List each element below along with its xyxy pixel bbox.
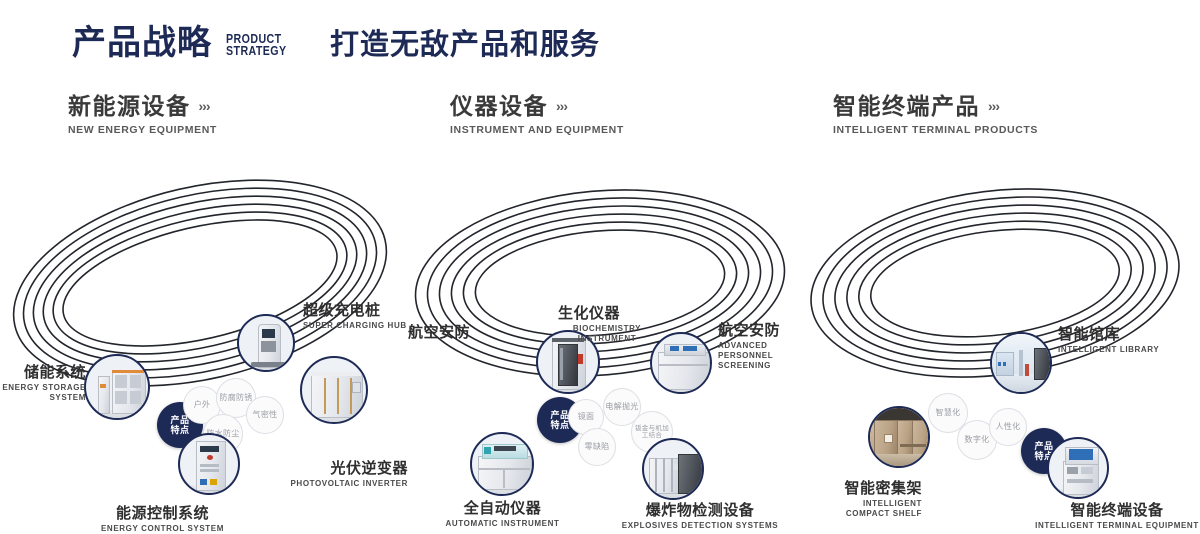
label-cn: 智能密集架 — [782, 480, 922, 497]
section-heading-new-energy: 新能源设备 ››› NEW ENERGY EQUIPMENT — [68, 94, 217, 136]
core-bubble-line2: 特点 — [170, 425, 189, 435]
label-en: INTELLIGENT COMPACT SHELF — [822, 499, 922, 519]
label-en: INTELLIGENT TERMINAL EQUIPMENT — [1027, 521, 1200, 531]
chevron-right-icon: ››› — [988, 99, 999, 114]
label-en: SUPER CHARGING HUB — [303, 321, 413, 331]
label-cn: 生化仪器 — [528, 305, 650, 322]
node-energy-control-system[interactable] — [178, 433, 240, 495]
label-super-charging-hub: 超级充电桩 SUPER CHARGING HUB — [303, 302, 413, 331]
label-explosives-detection-systems: 爆炸物检测设备 EXPLOSIVES DETECTION SYSTEMS — [615, 502, 785, 531]
orbit-rings-instrument — [400, 150, 800, 415]
label-cn: 智能终端设备 — [1027, 502, 1200, 519]
label-en: BIOCHEMISTRY INSTRUMENT — [564, 324, 650, 344]
node-intelligent-compact-shelf[interactable] — [868, 406, 930, 468]
product-strategy-infographic: 产品战略 PRODUCT STRATEGY 打造无敌产品和服务 新能源设备 ››… — [0, 0, 1200, 422]
section-heading-intelligent-terminal: 智能终端产品 ››› INTELLIGENT TERMINAL PRODUCTS — [833, 94, 1038, 136]
label-energy-control-system: 能源控制系统 ENERGY CONTROL SYSTEM — [75, 505, 250, 534]
feature-bubble-airtight: 气密性 — [246, 396, 284, 434]
section-heading-english: INTELLIGENT TERMINAL PRODUCTS — [833, 124, 1038, 136]
automatic-analyzer-icon — [472, 434, 532, 494]
label-cn: 爆炸物检测设备 — [615, 502, 785, 519]
pv-inverter-cabinet-icon — [302, 358, 366, 422]
control-cabinet-icon — [180, 435, 238, 493]
section-heading-label: 智能终端产品 — [833, 94, 980, 119]
node-intelligent-library[interactable] — [990, 332, 1052, 394]
section-heading-english: INSTRUMENT AND EQUIPMENT — [450, 124, 624, 136]
page-title-english: PRODUCT STRATEGY — [226, 33, 287, 60]
chevron-right-icon: ››› — [556, 99, 567, 114]
label-intelligent-compact-shelf: 智能密集架 INTELLIGENT COMPACT SHELF — [782, 480, 922, 519]
node-explosives-detection-systems[interactable] — [642, 438, 704, 500]
label-en: ENERGY STORAGE SYSTEM — [0, 383, 86, 403]
label-cn: 光伏逆变器 — [276, 460, 408, 477]
page-title-english-line2: STRATEGY — [226, 45, 287, 57]
label-intelligent-library: 智能馆库 INTELLIGENT LIBRARY — [1058, 326, 1188, 355]
label-en: ENERGY CONTROL SYSTEM — [75, 524, 250, 534]
label-cn: 航空安防 — [408, 324, 470, 341]
section-heading-label: 新能源设备 — [68, 94, 191, 119]
label-cn: 超级充电桩 — [303, 302, 413, 319]
section-heading-label: 仪器设备 — [450, 94, 548, 119]
label-en: PHOTOVOLTAIC INVERTER — [276, 479, 408, 489]
label-en: AUTOMATIC INSTRUMENT — [425, 519, 580, 529]
node-super-charging-hub[interactable] — [237, 314, 295, 372]
label-en: ADVANCED PERSONNEL SCREENING — [718, 341, 810, 371]
label-energy-storage-system: 储能系统 ENERGY STORAGE SYSTEM — [0, 364, 86, 403]
node-automatic-instrument[interactable] — [470, 432, 534, 496]
cluster-new-energy: 产品 特点 户外 防腐防锈 防水防尘 气密性 储能系统 ENERGY STORA… — [0, 150, 400, 415]
label-cn: 全自动仪器 — [425, 500, 580, 517]
chevron-right-icon: ››› — [199, 99, 210, 114]
label-intelligent-terminal-equipment: 智能终端设备 INTELLIGENT TERMINAL EQUIPMENT — [1027, 502, 1200, 531]
charging-pile-icon — [239, 316, 293, 370]
section-heading-instrument: 仪器设备 ››› INSTRUMENT AND EQUIPMENT — [450, 94, 624, 136]
node-energy-storage-system[interactable] — [84, 354, 150, 420]
feature-bubble-humanized: 人性化 — [989, 408, 1027, 446]
compact-shelving-icon — [870, 408, 928, 466]
core-bubble-line1: 产品 — [550, 410, 569, 420]
section-heading-english: NEW ENERGY EQUIPMENT — [68, 124, 217, 136]
label-photovoltaic-inverter: 光伏逆变器 PHOTOVOLTAIC INVERTER — [276, 460, 408, 489]
node-photovoltaic-inverter[interactable] — [300, 356, 368, 424]
label-aviation-security-extra: 航空安防 — [408, 324, 470, 341]
node-intelligent-terminal-equipment[interactable] — [1047, 437, 1109, 499]
label-en: INTELLIGENT LIBRARY — [1058, 345, 1188, 355]
node-advanced-personnel-screening[interactable] — [650, 332, 712, 394]
label-automatic-instrument: 全自动仪器 AUTOMATIC INSTRUMENT — [425, 500, 580, 529]
label-en: EXPLOSIVES DETECTION SYSTEMS — [615, 521, 785, 531]
explosives-detector-icon — [644, 440, 702, 498]
page-title-block: 产品战略 PRODUCT STRATEGY — [72, 26, 300, 60]
page-slogan: 打造无敌产品和服务 — [330, 28, 600, 63]
label-cn: 能源控制系统 — [75, 505, 250, 522]
smart-library-room-icon — [992, 334, 1050, 392]
page-title: 产品战略 — [72, 26, 212, 60]
cluster-instrument: 产品 特点 镜面 电解抛光 零缺陷 钣金与机加工结合 航空安防 生化仪器 BIO… — [400, 150, 800, 415]
energy-storage-cabinet-icon — [86, 356, 148, 418]
feature-bubble-zero-defect: 零缺陷 — [578, 428, 616, 466]
self-service-kiosk-icon — [1049, 439, 1107, 497]
label-biochemistry-instrument: 生化仪器 BIOCHEMISTRY INSTRUMENT — [528, 305, 650, 344]
cluster-intelligent-terminal: 智慧化 数字化 人性化 产品 特点 智能馆库 INTELLIGENT LIBRA… — [800, 150, 1200, 415]
screening-machine-icon — [652, 334, 710, 392]
label-cn: 储能系统 — [0, 364, 86, 381]
label-cn: 智能馆库 — [1058, 326, 1188, 343]
